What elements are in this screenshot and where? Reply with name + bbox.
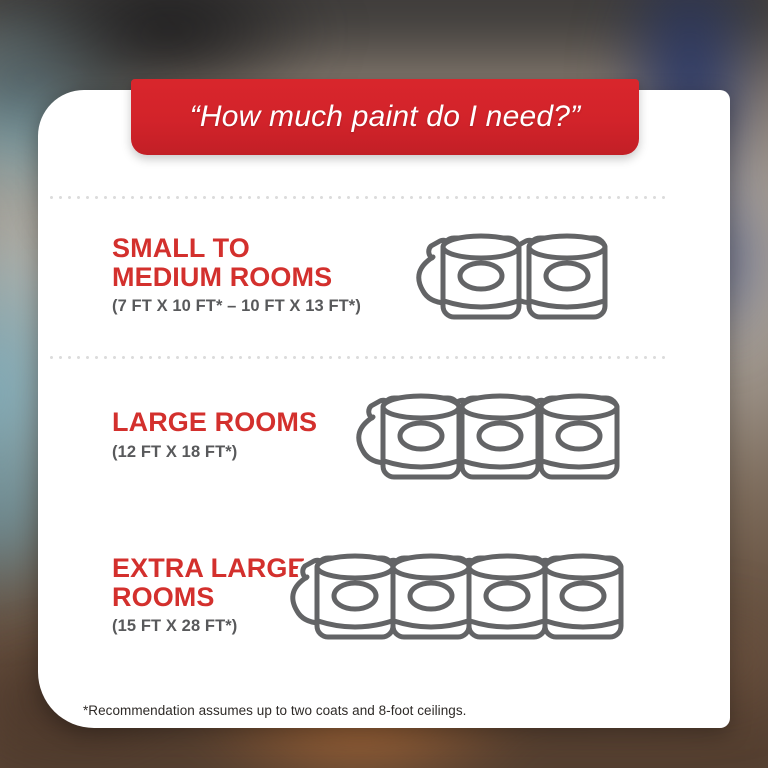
list-item-small-medium-rooms: SMALL TO MEDIUM ROOMS (7 FT X 10 FT* – 1…	[38, 210, 730, 340]
row-title-line: MEDIUM ROOMS	[112, 263, 393, 292]
list-item-large-rooms: LARGE ROOMS (12 FT X 18 FT*)	[38, 370, 730, 500]
row-title-line: LARGE ROOMS	[112, 408, 393, 437]
room-size-list: SMALL TO MEDIUM ROOMS (7 FT X 10 FT* – 1…	[38, 155, 730, 728]
row-can-illustration	[393, 370, 730, 500]
row-title-line: SMALL TO	[112, 234, 393, 263]
paint-can-group-3	[359, 382, 619, 488]
row-label-group: SMALL TO MEDIUM ROOMS (7 FT X 10 FT* – 1…	[38, 234, 393, 316]
row-can-illustration	[393, 210, 730, 340]
page-title: “How much paint do I need?”	[190, 100, 581, 134]
paint-can-group-4	[293, 542, 623, 648]
row-dimensions: (7 FT X 10 FT* – 10 FT X 13 FT*)	[112, 297, 393, 316]
paint-can-group-2	[419, 222, 619, 328]
row-dimensions: (12 FT X 18 FT*)	[112, 443, 393, 462]
row-can-illustration	[393, 530, 730, 660]
row-title: LARGE ROOMS	[112, 408, 393, 437]
row-label-group: LARGE ROOMS (12 FT X 18 FT*)	[38, 408, 393, 461]
list-item-extra-large-rooms: EXTRA LARGE ROOMS (15 FT X 28 FT*)	[38, 530, 730, 660]
row-title: SMALL TO MEDIUM ROOMS	[112, 234, 393, 292]
footnote-text: *Recommendation assumes up to two coats …	[83, 703, 466, 718]
header-banner: “How much paint do I need?”	[131, 79, 639, 155]
